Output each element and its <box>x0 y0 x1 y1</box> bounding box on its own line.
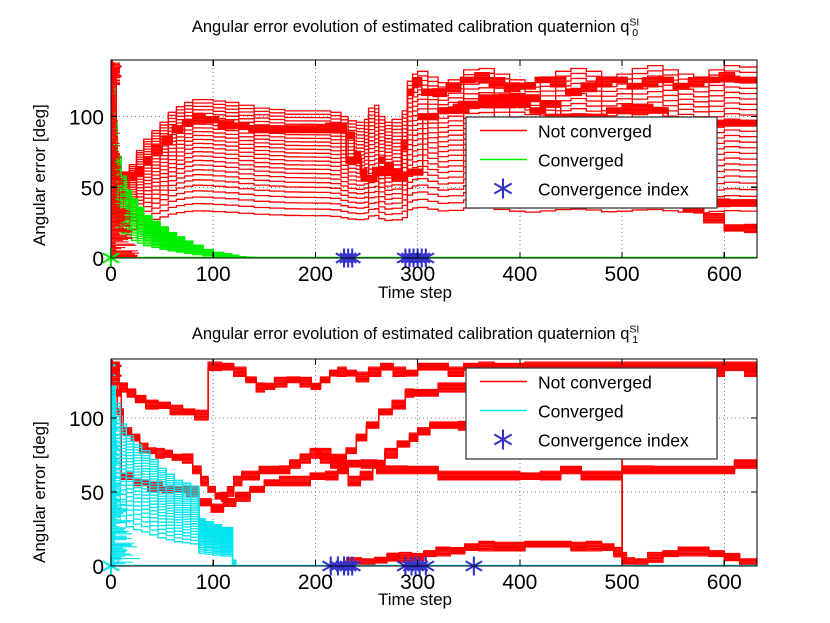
plot-title-subscript: 0 <box>632 27 638 39</box>
legend-item-label: Convergence index <box>538 431 689 451</box>
legend-item-label: Convergence index <box>538 180 689 200</box>
chart-canvas-q0: 0100200300400500600050100Not convergedCo… <box>0 0 830 311</box>
y-tick-label: 100 <box>69 408 104 431</box>
y-tick-label: 50 <box>81 177 104 200</box>
y-tick-label: 0 <box>92 248 104 271</box>
plot-title-text: Angular error evolution of estimated cal… <box>192 18 630 36</box>
initial-red-cluster <box>102 60 121 84</box>
plot-title-text: Angular error evolution of estimated cal… <box>192 325 630 343</box>
legend-item-label: Converged <box>538 151 624 171</box>
figure-root: Angular error evolution of estimated cal… <box>0 0 830 623</box>
legend-item-label: Not converged <box>538 373 652 393</box>
legend: Not convergedConvergedConvergence index <box>466 368 717 459</box>
legend-item-label: Converged <box>538 402 624 422</box>
legend: Not convergedConvergedConvergence index <box>466 117 717 208</box>
plot-title-subscript: 1 <box>632 334 638 346</box>
chart-canvas-q1: 0100200300400500600050100Not convergedCo… <box>0 311 830 623</box>
plot-title-q1: Angular error evolution of estimated cal… <box>0 325 830 344</box>
panel-q1: Angular error evolution of estimated cal… <box>0 311 830 623</box>
x-axis-label-q1: Time step <box>0 590 830 610</box>
legend-item-label: Not converged <box>538 122 652 142</box>
x-axis-label-q0: Time step <box>0 283 830 303</box>
y-axis-label-q0: Angular error [deg] <box>30 104 50 246</box>
panel-q0: Angular error evolution of estimated cal… <box>0 0 830 311</box>
y-axis-label-q1: Angular error [deg] <box>30 421 50 563</box>
plot-title-q0: Angular error evolution of estimated cal… <box>0 18 830 37</box>
y-tick-label: 50 <box>81 482 104 505</box>
y-tick-label: 100 <box>69 107 104 130</box>
y-tick-label: 0 <box>92 556 104 579</box>
